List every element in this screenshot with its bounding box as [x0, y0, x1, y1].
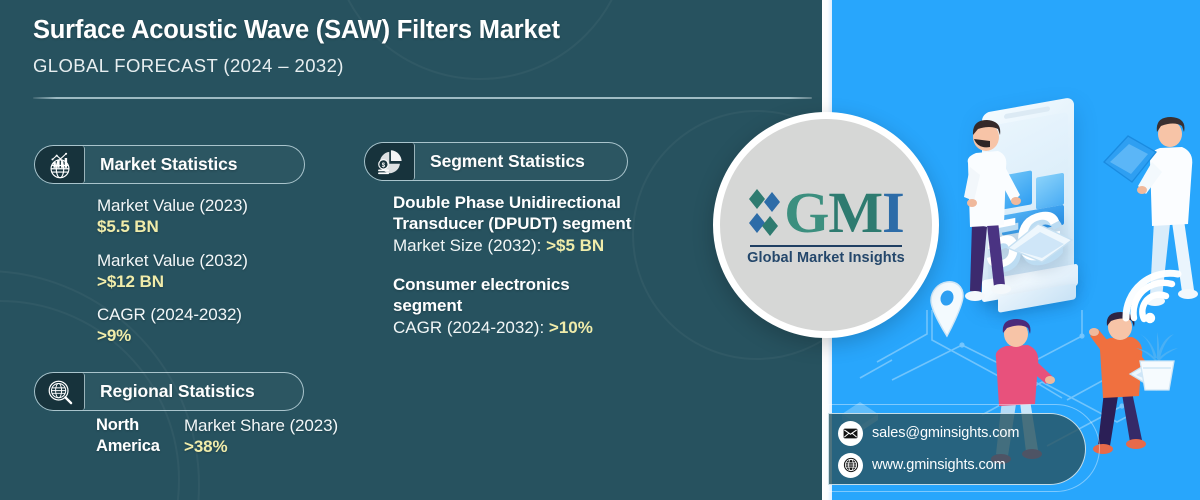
section-label: Regional Statistics [85, 381, 271, 402]
header: Surface Acoustic Wave (SAW) Filters Mark… [33, 16, 813, 77]
stat-value: >38% [184, 436, 396, 458]
stat-label: CAGR (2024-2032) [97, 304, 327, 325]
diamonds-icon [748, 186, 782, 240]
section-label: Segment Statistics [415, 151, 601, 172]
stat-group: Double Phase Unidirectional Transducer (… [393, 192, 693, 257]
envelope-glyph [843, 428, 858, 439]
globe-magnifier-icon [35, 373, 85, 410]
stat-label: Consumer electronics segment [393, 274, 608, 317]
pie-chart-money-icon: $ [365, 143, 415, 180]
contact-email-row[interactable]: sales@gminsights.com [838, 421, 1085, 446]
section-header-market-statistics: Market Statistics [34, 145, 305, 184]
logo-letter-g: G [784, 180, 828, 245]
section-label: Market Statistics [85, 154, 253, 175]
stat-label: Market Share (2023) [184, 415, 396, 436]
logo-wordmark: GMI [784, 184, 903, 242]
potted-plant-icon [1130, 328, 1184, 392]
region-stat: Market Share (2023) >38% [184, 415, 396, 459]
stat-label: Double Phase Unidirectional Transducer (… [393, 192, 693, 235]
person-with-laptop [950, 115, 1028, 315]
stat-group: CAGR (2024-2032) >9% [97, 304, 327, 348]
gmi-logo-badge: GMI Global Market Insights [713, 112, 939, 338]
page-title: Surface Acoustic Wave (SAW) Filters Mark… [33, 16, 813, 45]
page-subtitle: GLOBAL FORECAST (2024 – 2032) [33, 55, 813, 77]
contact-card: sales@gminsights.com www.gminsights.com [828, 413, 1086, 485]
contact-email[interactable]: sales@gminsights.com [872, 425, 1019, 441]
stat-group: Market Value (2023) $5.5 BN [97, 195, 327, 239]
left-content-panel: Surface Acoustic Wave (SAW) Filters Mark… [0, 0, 822, 500]
contact-website-row[interactable]: www.gminsights.com [838, 453, 1085, 478]
stat-value: >$12 BN [97, 271, 327, 293]
market-statistics-body: Market Value (2023) $5.5 BN Market Value… [97, 195, 327, 348]
globe-icon [838, 453, 863, 478]
logo-letter-m: M [828, 180, 882, 245]
laptop-icon [1004, 218, 1076, 266]
segment-statistics-body: Double Phase Unidirectional Transducer (… [393, 192, 693, 339]
section-header-regional-statistics: Regional Statistics [34, 372, 304, 411]
header-divider [33, 97, 812, 99]
stat-label: Market Value (2023) [97, 195, 327, 216]
stat-label: Market Value (2032) [97, 250, 327, 271]
stat-group: Consumer electronics segment CAGR (2024-… [393, 274, 693, 339]
stat-metric-row: Market Size (2032): >$5 BN [393, 235, 693, 257]
logo-tagline: Global Market Insights [747, 250, 905, 266]
regional-statistics-body: North America Market Share (2023) >38% [96, 415, 396, 459]
stat-value: $5.5 BN [97, 216, 327, 238]
logo-letter-i: I [882, 180, 904, 245]
stat-group: Market Value (2032) >$12 BN [97, 250, 327, 294]
section-header-segment-statistics: $ Segment Statistics [364, 142, 628, 181]
stat-value: >$5 BN [546, 236, 604, 255]
contact-website[interactable]: www.gminsights.com [872, 457, 1006, 473]
logo-rule [750, 245, 902, 247]
stat-value: >9% [97, 325, 327, 347]
globe-glyph [843, 457, 859, 473]
envelope-icon [838, 421, 863, 446]
stat-metric-label: Market Size (2032): [393, 236, 546, 255]
regional-row: North America Market Share (2023) >38% [96, 415, 396, 459]
wifi-icon [1116, 268, 1186, 326]
region-name: North America [96, 415, 184, 456]
stat-metric-label: CAGR (2024-2032): [393, 318, 549, 337]
globe-bar-chart-icon [35, 146, 85, 183]
stat-value: >10% [549, 318, 593, 337]
logo-mark: GMI [748, 184, 903, 242]
infographic-root: Surface Acoustic Wave (SAW) Filters Mark… [0, 0, 1200, 500]
stat-metric-row: CAGR (2024-2032): >10% [393, 317, 693, 339]
handheld-tablet-icon [1100, 132, 1160, 190]
